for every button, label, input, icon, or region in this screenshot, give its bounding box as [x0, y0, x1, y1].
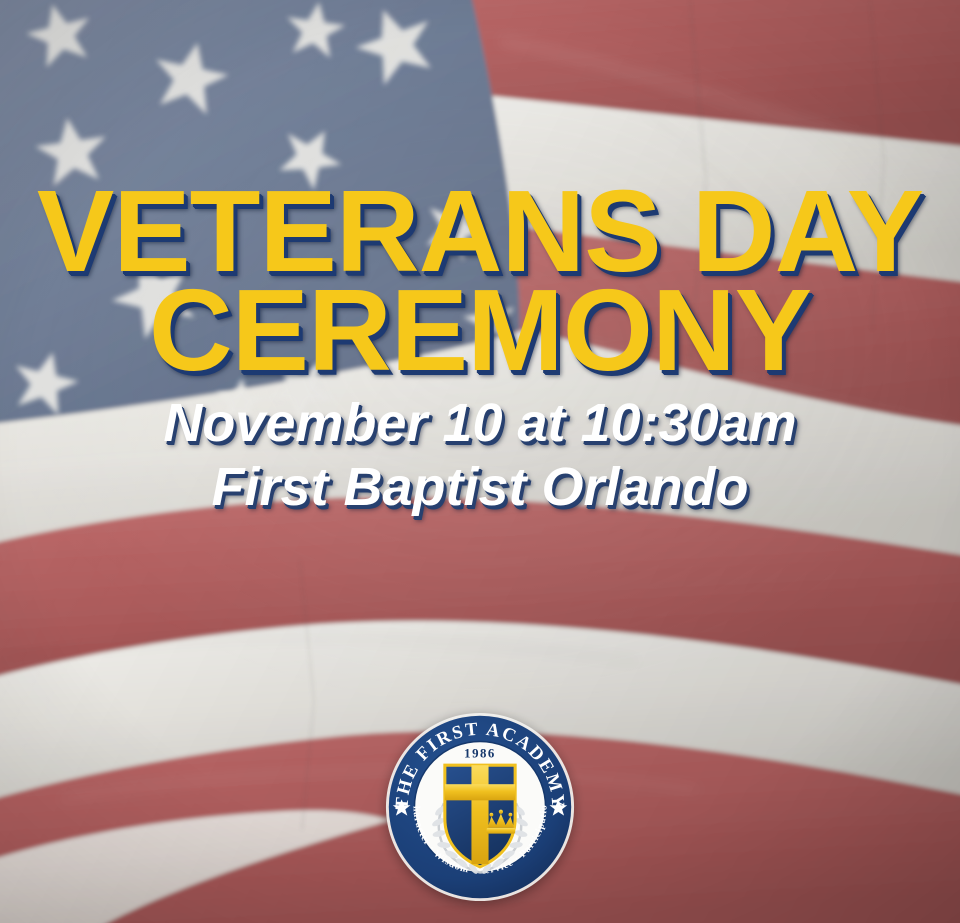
- veterans-day-poster: VETERANS DAY CEREMONY November 10 at 10:…: [0, 0, 960, 923]
- headline-line-2: CEREMONY: [0, 277, 960, 384]
- poster-text-block: VETERANS DAY CEREMONY November 10 at 10:…: [0, 178, 960, 517]
- event-location: First Baptist Orlando: [0, 459, 960, 517]
- event-datetime: November 10 at 10:30am: [0, 395, 960, 453]
- crest-founded-year: 1986: [464, 747, 496, 761]
- the-first-academy-logo: THE FIRST ACADEMY Character · Wisdom · S…: [385, 712, 575, 902]
- crest-crown-icon: [487, 810, 516, 834]
